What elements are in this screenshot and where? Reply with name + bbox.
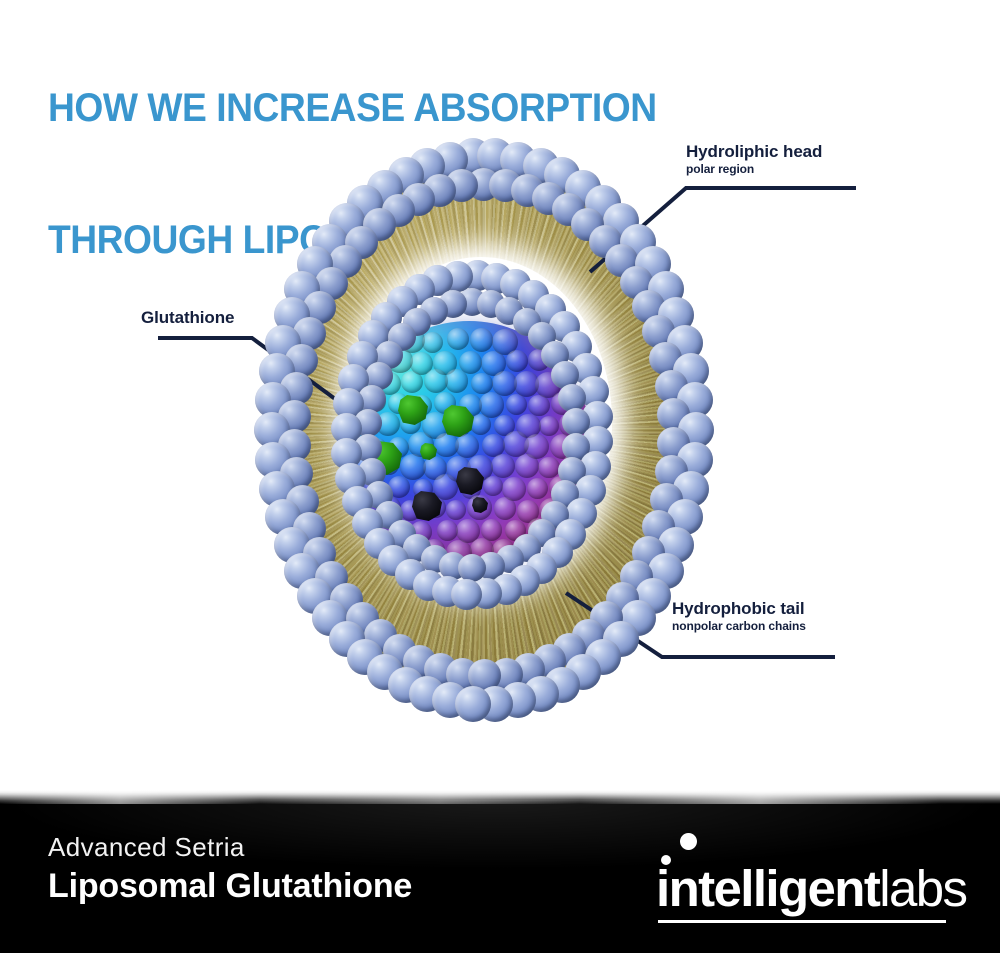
footer-bar: Advanced Setria Liposomal Glutathione in…: [0, 790, 1000, 953]
callout-hydrophilic-head-subtitle: polar region: [686, 162, 822, 177]
logo-wordmark: intelligentlabs: [656, 861, 966, 917]
infographic-page: HOW WE INCREASE ABSORPTION THROUGH LIPOS…: [0, 0, 1000, 953]
callout-glutathione: Glutathione: [141, 308, 234, 328]
product-subtitle: Advanced Setria: [48, 830, 412, 864]
intelligentlabs-logo[interactable]: intelligentlabs: [650, 830, 960, 930]
callout-hydrophilic-head-title: Hydroliphic head: [686, 142, 822, 162]
hydrophilic-head-bead: [455, 686, 491, 722]
callout-hydrophobic-tail-title: Hydrophobic tail: [672, 599, 806, 619]
product-name: Liposomal Glutathione: [48, 864, 412, 908]
logo-dot-large-icon: [680, 833, 697, 850]
callout-hydrophobic-tail-subtitle: nonpolar carbon chains: [672, 619, 806, 634]
callout-hydrophobic-tail: Hydrophobic tail nonpolar carbon chains: [672, 599, 806, 634]
callout-glutathione-title: Glutathione: [141, 308, 234, 328]
logo-word-bold: intelligent: [656, 860, 879, 917]
logo-word-light: labs: [879, 860, 966, 917]
logo-underline: [658, 920, 946, 923]
callout-hydrophilic-head: Hydroliphic head polar region: [686, 142, 822, 177]
liposome-illustration: Hydroliphic head polar region Hydrophobi…: [0, 110, 1000, 790]
product-branding: Advanced Setria Liposomal Glutathione: [48, 830, 412, 908]
